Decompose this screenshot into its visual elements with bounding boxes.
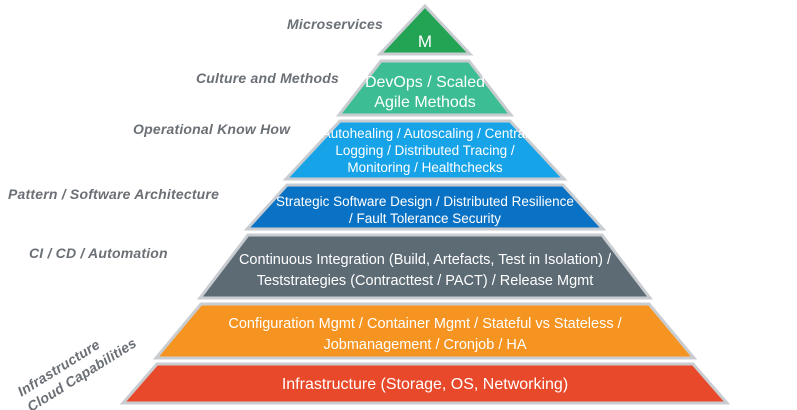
tier-text-pattern-line-1: Strategic Software Design / Distributed … — [276, 194, 574, 209]
tier-text-operational-line-2: Logging / Distributed Tracing / — [335, 143, 515, 158]
tier-text-cicd-line-1: Continuous Integration (Build, Artefacts… — [239, 252, 612, 268]
tier-text-cicd-line-2: Teststrategies (Contracttest / PACT) / R… — [257, 273, 594, 289]
tier-text-operational-line-1: Autohealing / Autoscaling / Central — [322, 126, 528, 141]
tier-text-culture-line-2: Agile Methods — [374, 94, 475, 111]
tier-text-pattern-line-2: / Fault Tolerance Security — [349, 211, 501, 226]
side-label-operational-know-how: Operational Know How — [133, 121, 290, 137]
side-label-culture-and-methods: Culture and Methods — [196, 70, 339, 86]
tier-text-operational-line-3: Monitoring / Healthchecks — [347, 160, 503, 175]
side-label-microservices: Microservices — [287, 16, 383, 32]
tier-text-culture-line-1: DevOps / Scaled — [365, 74, 485, 91]
tier-text-infrastructure-line-1: Infrastructure (Storage, OS, Networking) — [282, 376, 568, 393]
tier-text-infra-cloud-line-2: Jobmanagement / Cronjob / HA — [323, 337, 526, 353]
tier-text-infra-cloud-line-1: Configuration Mgmt / Container Mgmt / St… — [228, 316, 622, 332]
tier-text-microservices-line-1: M — [418, 32, 432, 51]
pyramid-diagram: M DevOps / Scaled Agile Methods Autoheal… — [0, 0, 797, 410]
side-label-pattern-software-architecture: Pattern / Software Architecture — [8, 186, 219, 202]
side-label-ci-cd-automation: CI / CD / Automation — [29, 245, 168, 261]
